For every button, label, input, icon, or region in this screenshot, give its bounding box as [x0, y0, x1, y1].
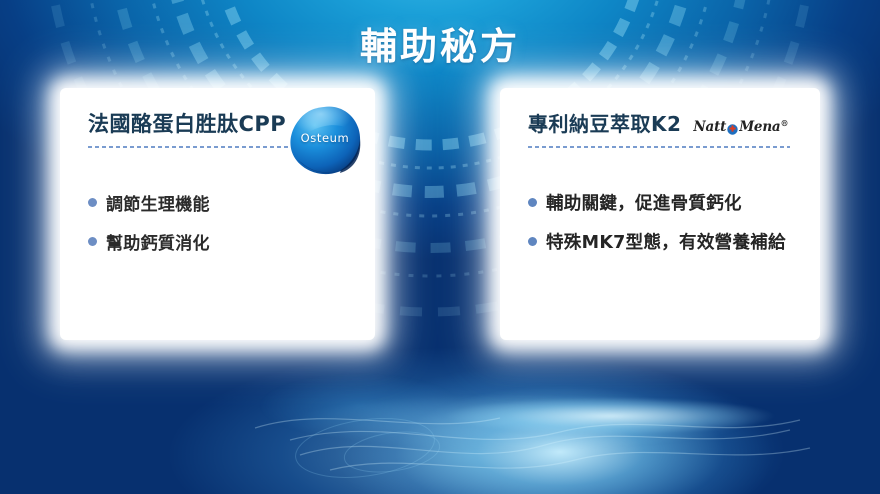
- card-k2-divider: [528, 146, 790, 148]
- osteum-blob-icon: [283, 104, 363, 176]
- card-k2-header: 專利納豆萃取K2 Natt Mena ®: [528, 108, 788, 137]
- list-item: 調節生理機能: [88, 190, 210, 215]
- card-cpp-bullet-1: 調節生理機能: [106, 190, 210, 215]
- card-cpp-bullets: 調節生理機能 幫助鈣質消化: [88, 190, 210, 268]
- nattmena-registered-mark: ®: [780, 118, 788, 128]
- card-k2[interactable]: 專利納豆萃取K2 Natt Mena ® 輔助關鍵，促進骨質鈣化: [500, 88, 820, 340]
- osteum-logo: Osteum: [283, 104, 363, 176]
- bullet-dot-icon: [88, 237, 97, 246]
- card-k2-bullet-1: 輔助關鍵，促進骨質鈣化: [546, 190, 742, 215]
- nattmena-logo: Natt Mena ®: [693, 119, 788, 135]
- nattmena-cross-icon: [727, 123, 738, 134]
- card-cpp-title: 法國酪蛋白胜肽CPP: [88, 108, 286, 138]
- card-k2-bullets: 輔助關鍵，促進骨質鈣化 特殊MK7型態，有效營養補給: [528, 190, 786, 268]
- list-item: 特殊MK7型態，有效營養補給: [528, 229, 786, 254]
- card-k2-bullet-2: 特殊MK7型態，有效營養補給: [546, 229, 786, 254]
- list-item: 輔助關鍵，促進骨質鈣化: [528, 190, 786, 215]
- bullet-dot-icon: [88, 198, 97, 207]
- card-cpp-header: 法國酪蛋白胜肽CPP: [88, 108, 286, 138]
- nattmena-part1: Natt: [693, 119, 726, 135]
- slide-canvas: 輔助秘方 法國酪蛋白胜肽CPP 調節生理機能 幫助鈣質消化: [0, 0, 880, 494]
- card-k2-title: 專利納豆萃取K2: [528, 108, 681, 137]
- page-title: 輔助秘方: [0, 16, 880, 70]
- bottom-glow-decoration: [0, 344, 880, 494]
- nattmena-part2: Mena: [739, 119, 780, 135]
- bullet-dot-icon: [528, 237, 537, 246]
- list-item: 幫助鈣質消化: [88, 229, 210, 254]
- card-cpp-bullet-2: 幫助鈣質消化: [106, 229, 210, 254]
- bullet-dot-icon: [528, 198, 537, 207]
